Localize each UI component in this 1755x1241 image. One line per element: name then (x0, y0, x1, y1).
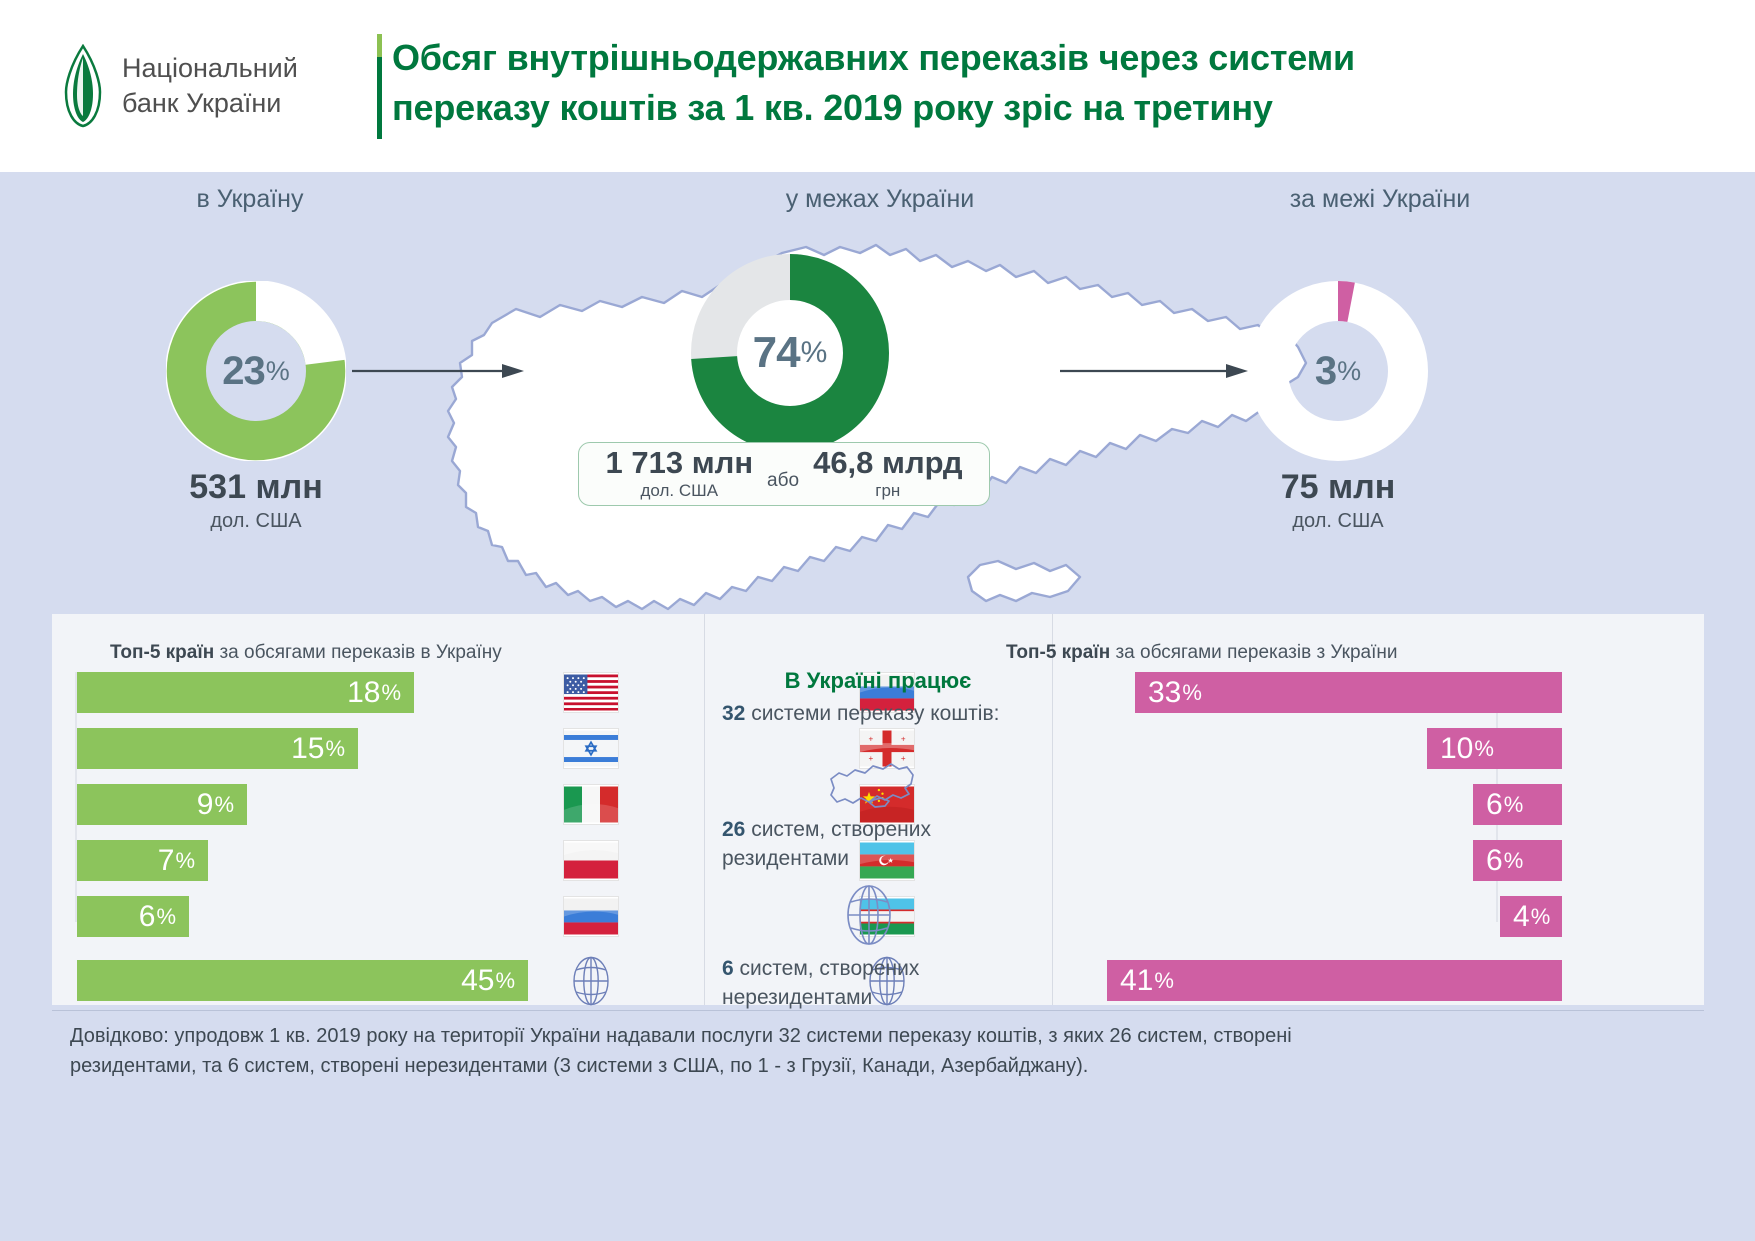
panel-right-title: Топ-5 країн за обсягами переказів з Укра… (1006, 642, 1397, 664)
nbu-leaf-logo-icon (58, 44, 108, 128)
flag-usa-icon (563, 672, 619, 713)
domestic-uah-unit: грн (813, 481, 962, 501)
domestic-amount-pill: 1 713 млн дол. США або 46,8 млрд грн (578, 442, 990, 506)
bar-row: 9% (77, 784, 247, 825)
bar-value: 33 (1148, 676, 1181, 710)
donut-outbound-center: 3% (1248, 281, 1428, 461)
bar-value: 9 (197, 788, 214, 822)
globe-icon-center (838, 884, 900, 946)
amount-outbound: 75 млн дол. США (1178, 468, 1498, 533)
bar-pct: % (175, 848, 195, 874)
bar-3: 6% (1473, 784, 1562, 825)
flag-russia-icon (563, 896, 619, 937)
panel-left-title: Топ-5 країн за обсягами переказів в Укра… (110, 642, 502, 664)
donut-domestic-pct: % (801, 336, 828, 370)
bar-row: 45% (77, 960, 528, 1001)
svg-text:+: + (868, 734, 873, 743)
bar-value: 41 (1120, 964, 1153, 998)
bar-2: 10% (1427, 728, 1562, 769)
nbu-logo: Національний банк України (58, 44, 358, 128)
donut-outbound-value: 3 (1315, 349, 1336, 394)
donut-chart-domestic: 74% (690, 253, 890, 453)
bar-6: 41% (1107, 960, 1562, 1001)
systems-line-3-count: 6 (722, 957, 734, 980)
systems-line-1: 32 системи переказу коштів: (722, 700, 1022, 729)
systems-line-3: 6 систем, створених нерезидентами (722, 955, 1022, 1012)
amount-outbound-unit: дол. США (1178, 510, 1498, 533)
bar-pct: % (1531, 904, 1551, 930)
bar-4: 7% (77, 840, 208, 881)
bar-row: 6% (77, 896, 189, 937)
bar-row: 10% (1427, 728, 1562, 769)
donut-chart-outbound: 3% (1248, 281, 1428, 461)
bar-value: 18 (347, 676, 380, 710)
bar-row: 7% (77, 840, 208, 881)
donut-domestic-value: 74 (753, 328, 800, 378)
ukraine-map-outline-icon (825, 757, 917, 811)
bar-1: 33% (1135, 672, 1562, 713)
panel-right-title-rest: за обсягами переказів з України (1110, 642, 1397, 663)
arrow-right-icon-1 (352, 363, 524, 379)
domestic-amount-usd: 1 713 млн дол. США (600, 447, 760, 501)
domestic-usd-value: 1 713 млн (606, 447, 754, 480)
header-divider (377, 34, 382, 139)
infographic-root: Національний банк України Обсяг внутрішн… (0, 0, 1755, 1241)
donut-inbound-value: 23 (222, 349, 265, 394)
amount-inbound: 531 млн дол. США (96, 468, 416, 533)
bar-pct: % (1504, 792, 1524, 818)
footnote-divider (52, 1010, 1704, 1011)
amount-inbound-unit: дол. США (96, 510, 416, 533)
flag-poland-icon (563, 840, 619, 881)
bar-chart-inbound: 18% 15% 9% 7% 6% 45% (75, 672, 675, 992)
systems-line-2: 26 систем, створених резидентами (722, 816, 1022, 873)
bar-row: 41% (1107, 960, 1562, 1001)
bar-value: 7 (158, 844, 175, 878)
bar-pct: % (381, 680, 401, 706)
bar-5: 4% (1500, 896, 1562, 937)
label-outbound: за межі України (1160, 185, 1600, 214)
header: Національний банк України Обсяг внутрішн… (0, 0, 1755, 172)
bar-row: 4% (1500, 896, 1562, 937)
bar-row: 18% (77, 672, 414, 713)
bar-5: 6% (77, 896, 189, 937)
systems-line-1-text: системи переказу коштів: (745, 702, 999, 725)
nbu-logo-text: Національний банк України (122, 51, 298, 120)
systems-line-1-count: 32 (722, 702, 745, 725)
systems-line-2-count: 26 (722, 818, 745, 841)
bar-pct: % (1504, 848, 1524, 874)
bar-pct: % (214, 792, 234, 818)
page-title: Обсяг внутрішньодержавних переказів чере… (392, 33, 1582, 132)
bar-value: 6 (139, 900, 156, 934)
label-domestic: у межах України (610, 185, 1150, 214)
arrow-right-icon-2 (1060, 363, 1248, 379)
panel-left-title-bold: Топ-5 країн (110, 642, 214, 663)
svg-text:+: + (901, 734, 906, 743)
bar-row: 6% (1473, 784, 1562, 825)
amount-inbound-value: 531 млн (96, 468, 416, 506)
systems-line-3-text: систем, створених нерезидентами (722, 957, 919, 1009)
bar-value: 45 (461, 964, 494, 998)
bar-pct: % (325, 736, 345, 762)
bar-2: 15% (77, 728, 358, 769)
label-inbound: в Україну (80, 185, 420, 214)
flag-israel-icon (563, 728, 619, 769)
domestic-conjunction: або (759, 456, 807, 492)
bar-pct: % (495, 968, 515, 994)
panel-right-title-bold: Топ-5 країн (1006, 642, 1110, 663)
systems-heading: В Україні працює (728, 668, 1028, 694)
domestic-amount-uah: 46,8 млрд грн (807, 447, 968, 501)
bar-1: 18% (77, 672, 414, 713)
domestic-usd-unit: дол. США (606, 481, 754, 501)
donut-inbound-pct: % (266, 356, 290, 387)
bar-row: 6% (1473, 840, 1562, 881)
panel-left-title-rest: за обсягами переказів в Україну (214, 642, 502, 663)
globe-icon (566, 956, 616, 1006)
bar-chart-outbound: 33% 10% ++ ++ 6% 6% 4% 41% (945, 672, 1545, 992)
donut-inbound-center: 23% (166, 281, 346, 461)
bar-value: 6 (1486, 844, 1503, 878)
bar-3: 9% (77, 784, 247, 825)
bar-value: 10 (1440, 732, 1473, 766)
systems-line-2-text: систем, створених резидентами (722, 818, 931, 870)
bar-4: 6% (1473, 840, 1562, 881)
panel-divider-1 (704, 614, 705, 1005)
bar-row: 33% (1135, 672, 1562, 713)
footnote-text: Довідково: упродовж 1 кв. 2019 року на т… (70, 1022, 1690, 1081)
amount-outbound-value: 75 млн (1178, 468, 1498, 506)
bar-6: 45% (77, 960, 528, 1001)
bar-pct: % (1154, 968, 1174, 994)
donut-chart-inbound: 23% (166, 281, 346, 461)
bar-value: 15 (291, 732, 324, 766)
bar-value: 6 (1486, 788, 1503, 822)
flag-italy-icon (563, 784, 619, 825)
bar-value: 4 (1513, 900, 1530, 934)
domestic-uah-value: 46,8 млрд (813, 447, 962, 480)
bar-pct: % (156, 904, 176, 930)
bar-pct: % (1182, 680, 1202, 706)
donut-domestic-center: 74% (690, 253, 890, 453)
donut-outbound-pct: % (1337, 356, 1361, 387)
bar-pct: % (1474, 736, 1494, 762)
bar-row: 15% (77, 728, 358, 769)
